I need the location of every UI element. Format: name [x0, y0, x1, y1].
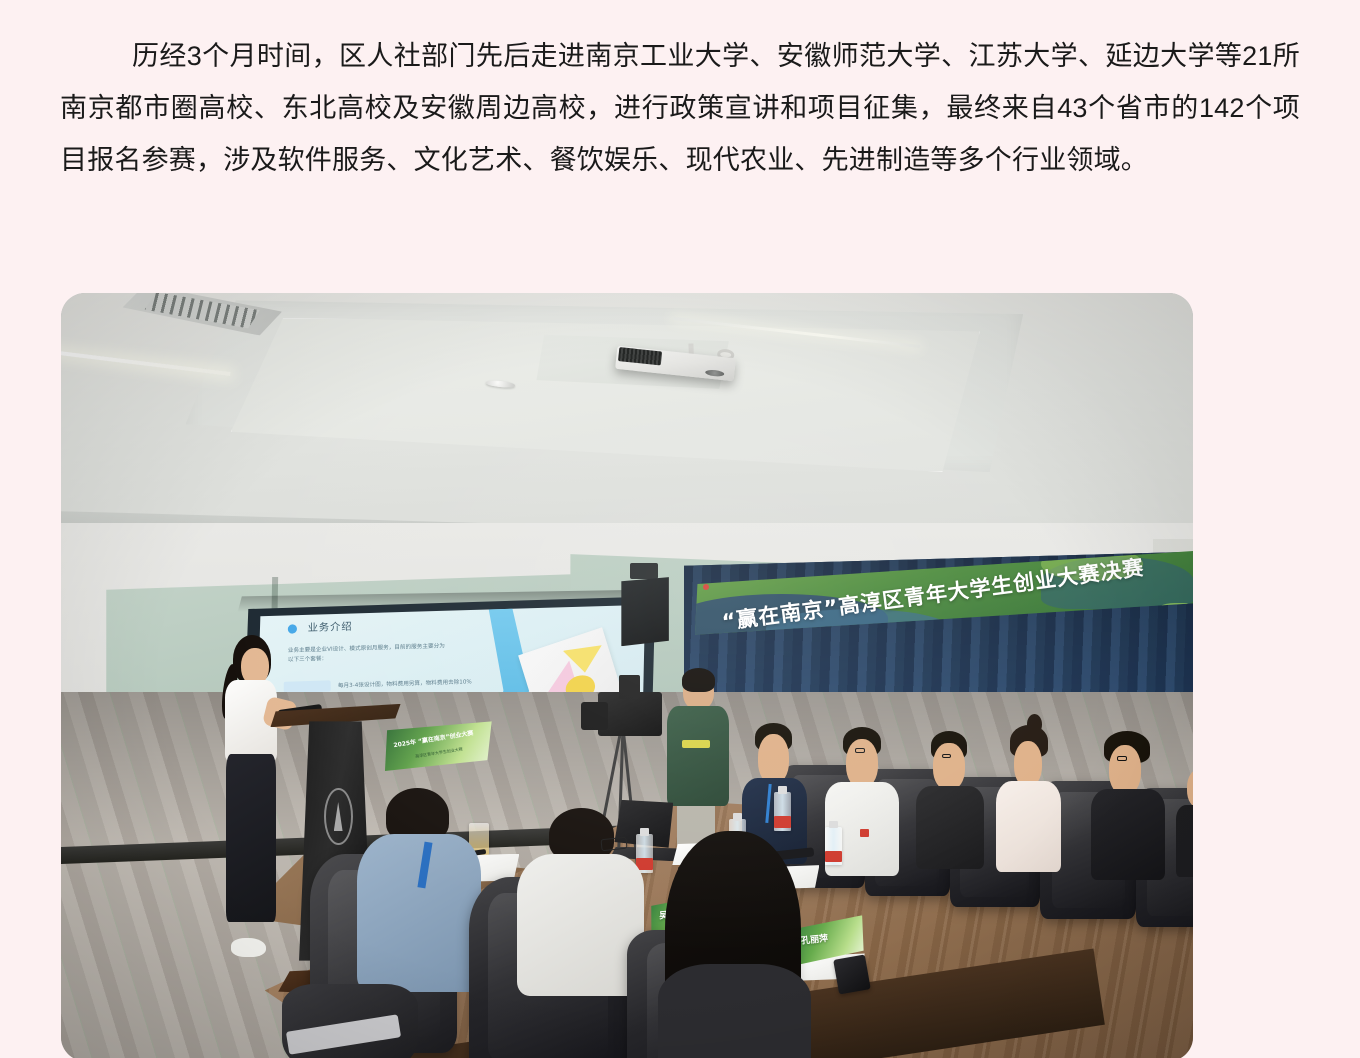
- page-root: 历经3个月时间，区人社部门先后走进南京工业大学、安徽师范大学、江苏大学、延边大学…: [0, 0, 1360, 1058]
- camera-lens-icon: [581, 702, 608, 729]
- glasses-icon: [855, 748, 864, 753]
- person-head: [758, 734, 789, 784]
- person-torso: [996, 781, 1061, 871]
- glasses-icon: [600, 837, 627, 851]
- person-torso: [1176, 805, 1193, 876]
- shirt-graphic: [682, 740, 710, 748]
- glasses-icon: [1117, 756, 1127, 761]
- wall-speaker-icon: [621, 577, 669, 646]
- glasses-icon: [942, 754, 951, 759]
- audience-person: [916, 731, 984, 869]
- person-torso: [357, 834, 481, 992]
- audience-person: [995, 723, 1063, 869]
- ceiling-light-strip-left: [61, 350, 230, 376]
- slide-paragraph: 业务主要是企业VI设计、模式原创月服务，目前的服务主要分为以下三个套餐：: [288, 642, 447, 665]
- person-head: [1014, 741, 1043, 788]
- person-torso: [667, 706, 729, 806]
- photo-scene: 业务介绍 业务主要是企业VI设计、模式原创月服务，目前的服务主要分为以下三个套餐…: [61, 293, 1193, 1058]
- article-paragraph: 历经3个月时间，区人社部门先后走进南京工业大学、安徽师范大学、江苏大学、延边大学…: [60, 30, 1300, 186]
- person-torso: [517, 854, 644, 996]
- camera-viewfinder: [619, 675, 640, 699]
- person-head: [1109, 745, 1141, 795]
- person-head: [1187, 769, 1193, 808]
- slide-title: 业务介绍: [307, 618, 352, 635]
- slide-row: 每月3-4张设计图，物料费用另算，物料费用去除10%: [284, 675, 514, 693]
- speaker-bracket: [630, 563, 657, 578]
- slide-bullet-icon: [288, 624, 297, 633]
- person-hair: [682, 668, 716, 692]
- person-torso: [1091, 789, 1165, 879]
- person-torso: [916, 786, 984, 869]
- person-head: [933, 743, 964, 790]
- ceiling: [61, 293, 1193, 539]
- projector-lens-icon: [705, 369, 725, 377]
- person-shoe: [231, 938, 266, 957]
- event-photo: 业务介绍 业务主要是企业VI设计、模式原创月服务，目前的服务主要分为以下三个套餐…: [61, 293, 1193, 1058]
- person-legs: [226, 754, 275, 922]
- audience-person: [655, 831, 813, 1058]
- audience-person: [1091, 731, 1165, 877]
- badge-icon: [860, 829, 869, 836]
- person-torso: [658, 964, 810, 1058]
- air-conditioner-vent: [122, 293, 284, 338]
- water-bottle: [825, 827, 842, 865]
- lectern-sign-line2: 高淳区青年大学生创业大赛: [415, 746, 463, 759]
- person-head: [846, 739, 878, 789]
- article-body: 历经3个月时间，区人社部门先后走进南京工业大学、安徽师范大学、江苏大学、延边大学…: [60, 30, 1300, 186]
- slide-row-text: 每月3-4张设计图，物料费用另算，物料费用去除10%: [338, 677, 472, 689]
- smartphone-icon: [834, 955, 871, 995]
- projector-vent: [618, 347, 662, 365]
- banner-logo-icon: [703, 584, 718, 599]
- audience-person: [1176, 754, 1193, 877]
- water-bottle: [774, 792, 791, 830]
